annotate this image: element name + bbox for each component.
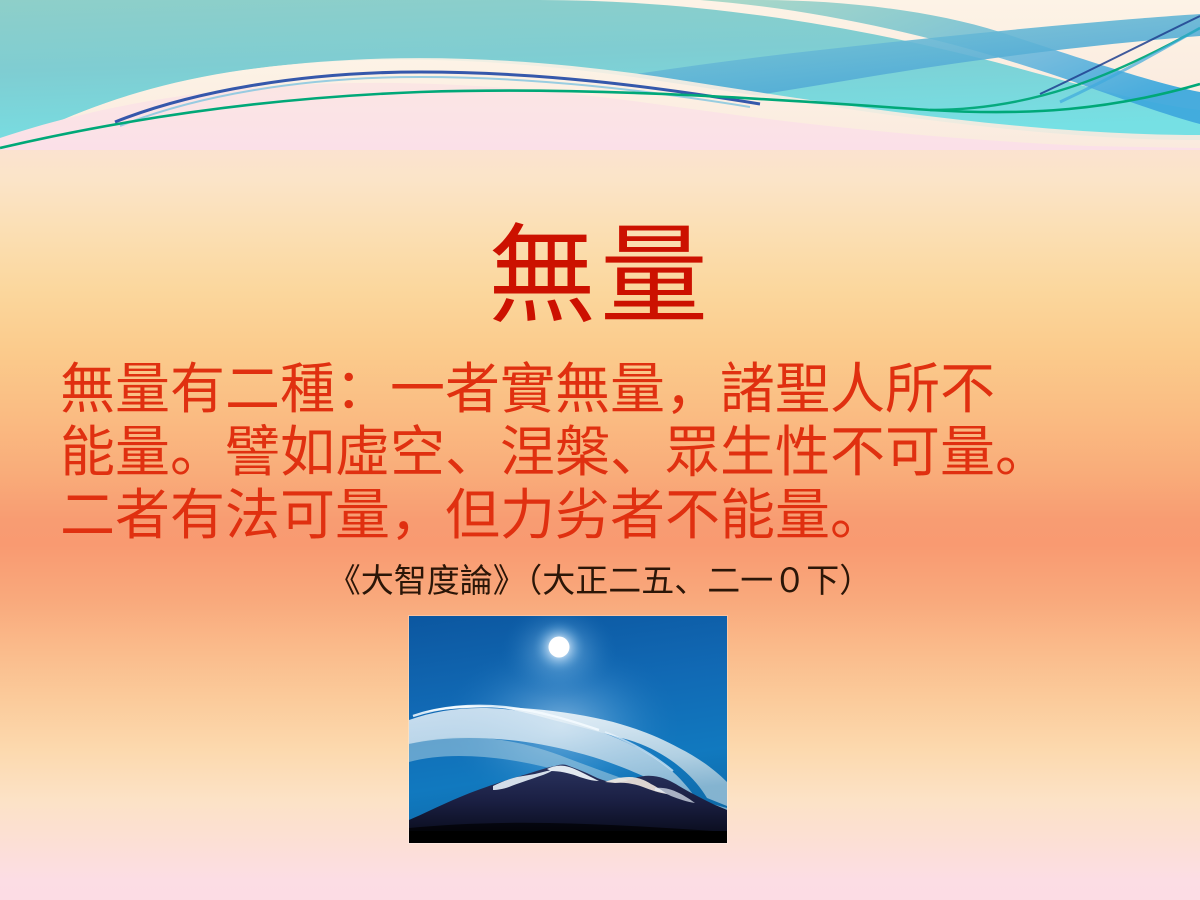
presentation-slide: 無量 無量有二種：一者實無量，諸聖人所不 能量。譬如虛空、涅槃、眾生性不可量。 … xyxy=(0,0,1200,900)
header-wave-band xyxy=(0,0,1200,150)
slide-title: 無量 xyxy=(0,218,1200,337)
header-wave-graphic xyxy=(0,0,1200,150)
source-citation: 《大智度論》（大正二五、二一０下） xyxy=(0,561,1200,601)
body-line-1: 無量有二種：一者實無量，諸聖人所不 xyxy=(60,358,1140,421)
body-line-3: 二者有法可量，但力劣者不能量。 xyxy=(60,484,1140,547)
moonlit-mountain-graphic xyxy=(409,616,727,843)
moonlit-mountain-photo xyxy=(409,616,727,843)
body-line-2: 能量。譬如虛空、涅槃、眾生性不可量。 xyxy=(60,421,1140,484)
slide-body-text: 無量有二種：一者實無量，諸聖人所不 能量。譬如虛空、涅槃、眾生性不可量。 二者有… xyxy=(60,358,1140,547)
